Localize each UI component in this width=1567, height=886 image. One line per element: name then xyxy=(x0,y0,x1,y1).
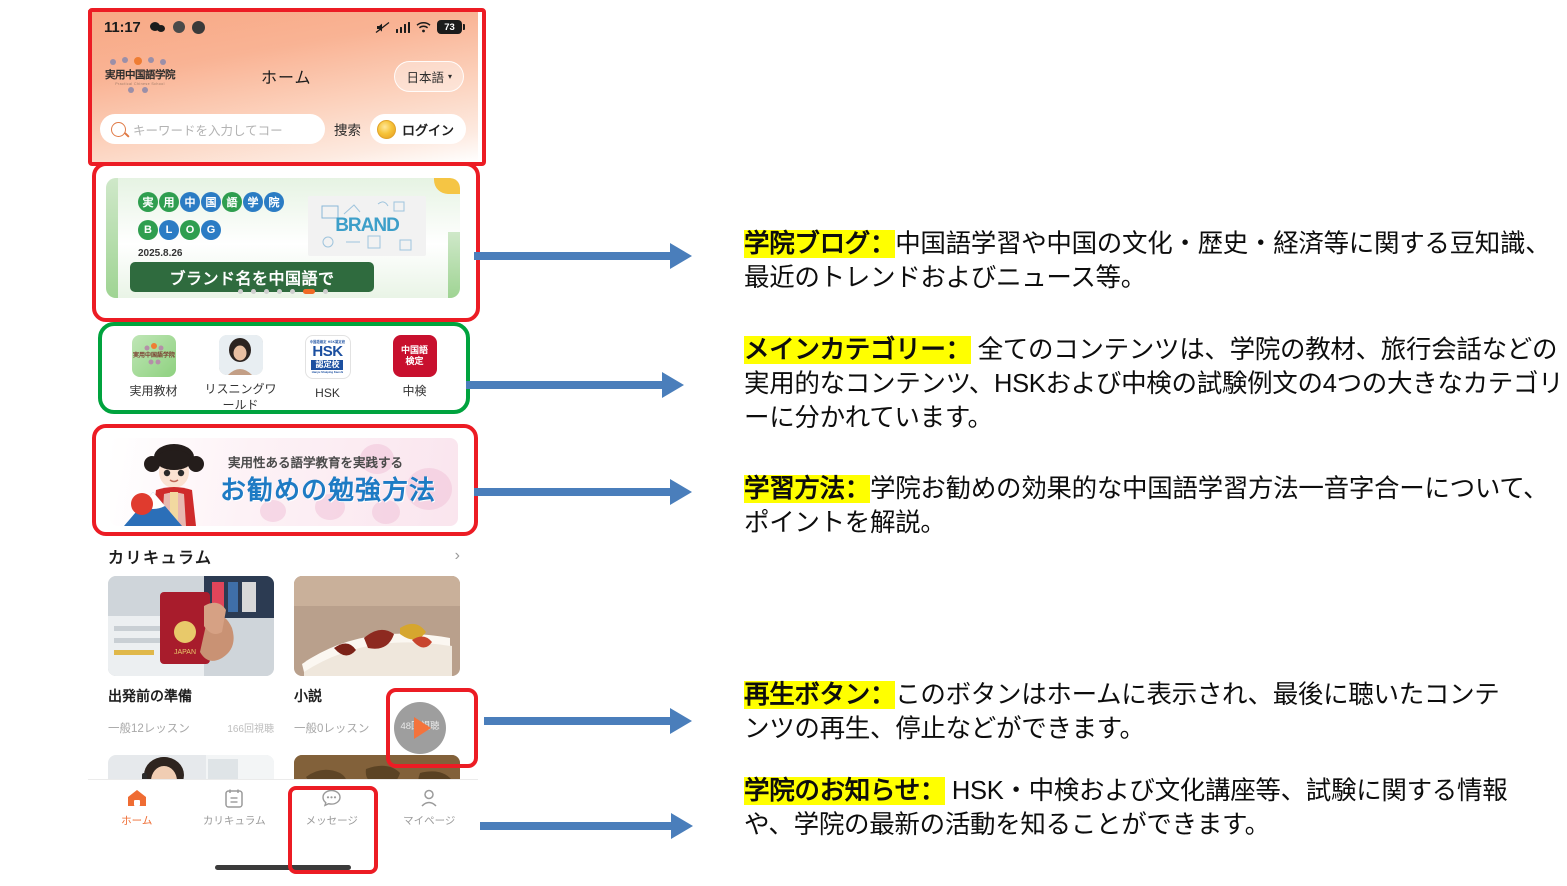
card-views: 166回視聴 xyxy=(227,720,274,736)
app-icon xyxy=(192,21,205,34)
brand-logo[interactable]: 実用中国語学院 Practical Chinese School xyxy=(102,57,178,95)
hsk-main-text: HSK xyxy=(312,344,342,359)
card-title: 小説 xyxy=(294,686,460,706)
banner-thumbnail: BRAND xyxy=(308,196,426,256)
annotation-blog: 学院ブログ：中国語学習や中国の文化・歴史・経済等に関する豆知識、最近のトレンドお… xyxy=(744,228,1558,296)
curriculum-title: カリキュラム xyxy=(108,544,213,568)
login-button[interactable]: ログイン xyxy=(370,114,466,144)
curriculum-header[interactable]: カリキュラム › xyxy=(108,544,460,568)
book-leaves-photo xyxy=(294,576,460,676)
banner-blog-word: BLOG xyxy=(138,220,221,240)
play-icon xyxy=(414,717,431,739)
play-button[interactable]: 48回視聴 xyxy=(394,702,446,754)
annotation-main-category: メインカテゴリー： 全てのコンテンツは、学院の教材、旅行会話などの実用的なコンテ… xyxy=(744,334,1564,436)
brand-name: 実用中国語学院 xyxy=(102,67,178,82)
category-label: 中検 xyxy=(376,383,454,399)
taobao-icon xyxy=(173,21,185,33)
brand-subtitle: Practical Chinese School xyxy=(102,82,178,86)
category-item-hsk[interactable]: 中国語検定 HSK認定校 HSK 認定校 Hanyu Shuiping Kaos… xyxy=(284,335,371,413)
arrow-to-category-note xyxy=(466,372,686,398)
mute-icon xyxy=(375,21,390,34)
annotation-label: 学院ブログ： xyxy=(744,230,895,258)
search-row: キーワードを入力してコー 捜索 ログイン xyxy=(88,108,478,150)
curriculum-card[interactable]: JAPAN 出発前の準備 一般12レッスン 166回視聴 xyxy=(108,576,274,736)
tab-label: マイページ xyxy=(403,813,455,828)
tab-home[interactable]: ホーム xyxy=(88,788,186,828)
category-label: リスニングワールド xyxy=(202,381,280,413)
arrow-to-news-note xyxy=(480,813,695,839)
svg-text:JAPAN: JAPAN xyxy=(174,649,196,656)
banner-school-title: 実用中国語学院 xyxy=(138,192,284,212)
annotation-study-method: 学習方法：学院お勧めの効果的な中国語学習方法一音字合ーについて、ポイントを解説。 xyxy=(744,473,1564,541)
category-item-chuken[interactable]: 中国語 検定 中検 xyxy=(371,335,458,413)
coin-icon xyxy=(377,120,396,139)
phone-mockup: 11:17 73 実用中国語学院 Practi xyxy=(88,10,478,886)
mount-fuji-icon xyxy=(122,490,184,526)
category-item-practical[interactable]: 実用中国語学院 実用教材 xyxy=(110,335,197,413)
calendar-icon xyxy=(224,788,244,808)
tab-label: ホーム xyxy=(121,813,152,828)
app-bar: 実用中国語学院 Practical Chinese School ホーム 日本語… xyxy=(88,50,478,102)
status-right-icons: 73 xyxy=(375,20,463,34)
wechat-icon xyxy=(150,22,166,33)
arrow-to-study-note xyxy=(474,479,694,505)
search-placeholder: キーワードを入力してコー xyxy=(133,120,283,139)
search-input[interactable]: キーワードを入力してコー xyxy=(100,114,325,144)
category-row: 実用中国語学院 実用教材 リスニングワールド 中国語検定 HSK認定校 HSK xyxy=(110,335,458,413)
chevron-down-icon: ▾ xyxy=(448,72,452,81)
annotation-school-news: 学院のお知らせ： HSK・中検および文化講座等、試験に関する情報や、学院の最新の… xyxy=(744,775,1554,843)
annotation-label: メインカテゴリー： xyxy=(744,336,971,364)
banner-strip-text: ブランド名を中国語で xyxy=(130,262,374,292)
home-indicator xyxy=(215,865,351,870)
banner-pagination-dots[interactable] xyxy=(238,289,328,294)
status-left-icons xyxy=(150,21,205,34)
banner-right-bar xyxy=(448,232,460,298)
status-bar: 11:17 73 xyxy=(88,10,478,44)
chevron-right-icon[interactable]: › xyxy=(455,547,460,565)
hsk-icon: 中国語検定 HSK認定校 HSK 認定校 Hanyu Shuiping Kaos… xyxy=(305,335,351,379)
logo-dots-top xyxy=(102,57,178,66)
tab-label: カリキュラム xyxy=(203,813,266,828)
study-banner-subtitle: 実用性ある語学教育を実践する xyxy=(228,452,403,471)
hsk-bottom-text: Hanyu Shuiping Kaoshi xyxy=(312,371,343,374)
card-meta: 一般12レッスン 166回視聴 xyxy=(108,720,274,736)
wifi-icon xyxy=(416,21,431,33)
tab-message[interactable]: メッセージ xyxy=(283,788,381,828)
category-item-listening[interactable]: リスニングワールド xyxy=(197,335,284,413)
person-icon xyxy=(419,788,439,808)
blog-banner[interactable]: 実用中国語学院 BLOG 2025.8.26 BRAND ブランド名を中国語で xyxy=(106,178,460,298)
study-banner-title: お勧めの勉強方法 xyxy=(220,470,436,507)
listening-world-icon xyxy=(219,335,263,375)
battery-indicator: 73 xyxy=(437,20,462,34)
banner-left-bar xyxy=(106,178,118,298)
language-selector[interactable]: 日本語 ▾ xyxy=(394,61,464,92)
study-method-banner[interactable]: 実用性ある語学教育を実践する お勧めの勉強方法 xyxy=(110,438,458,526)
login-label: ログイン xyxy=(402,120,454,139)
annotation-play-button: 再生ボタン：このボタンはホームに表示され、最後に聴いたコンテンツの再生、停止など… xyxy=(744,679,1504,747)
arrow-to-blog-note xyxy=(474,243,694,269)
chuken-icon: 中国語 検定 xyxy=(393,335,437,377)
language-label: 日本語 xyxy=(406,67,444,86)
tab-label: メッセージ xyxy=(306,813,358,828)
logo-dots-bottom xyxy=(102,87,178,95)
card-lessons: 一般12レッスン xyxy=(108,720,190,736)
practical-materials-icon: 実用中国語学院 xyxy=(132,335,176,377)
annotation-label: 学院のお知らせ： xyxy=(744,777,945,805)
message-icon xyxy=(321,788,342,808)
arrow-to-play-note xyxy=(484,708,694,734)
passport-photo: JAPAN xyxy=(108,576,274,676)
signal-icon xyxy=(396,22,411,33)
tab-curriculum[interactable]: カリキュラム xyxy=(186,788,284,828)
home-icon xyxy=(126,788,148,808)
chuken-line2: 検定 xyxy=(401,356,428,367)
bottom-tab-bar: ホーム カリキュラム メッセージ xyxy=(88,779,478,850)
search-button[interactable]: 捜索 xyxy=(334,119,361,139)
search-icon xyxy=(111,122,126,137)
chuken-line1: 中国語 xyxy=(401,345,428,356)
page-title: ホーム xyxy=(178,64,394,88)
banner-corner-accent xyxy=(434,178,460,194)
category-label: HSK xyxy=(289,385,367,401)
annotation-label: 再生ボタン： xyxy=(744,681,895,709)
category-label: 実用教材 xyxy=(115,383,193,399)
card-title: 出発前の準備 xyxy=(108,686,274,706)
status-time: 11:17 xyxy=(104,19,141,36)
banner-brand-word: BRAND xyxy=(335,215,399,237)
banner-date: 2025.8.26 xyxy=(138,248,183,259)
tab-mypage[interactable]: マイページ xyxy=(381,788,479,828)
svg-text:実用中国語学院: 実用中国語学院 xyxy=(132,351,174,359)
card-lessons: 一般0レッスン xyxy=(294,720,369,736)
annotation-label: 学習方法： xyxy=(744,475,870,503)
hsk-bar-text: 認定校 xyxy=(311,360,343,370)
